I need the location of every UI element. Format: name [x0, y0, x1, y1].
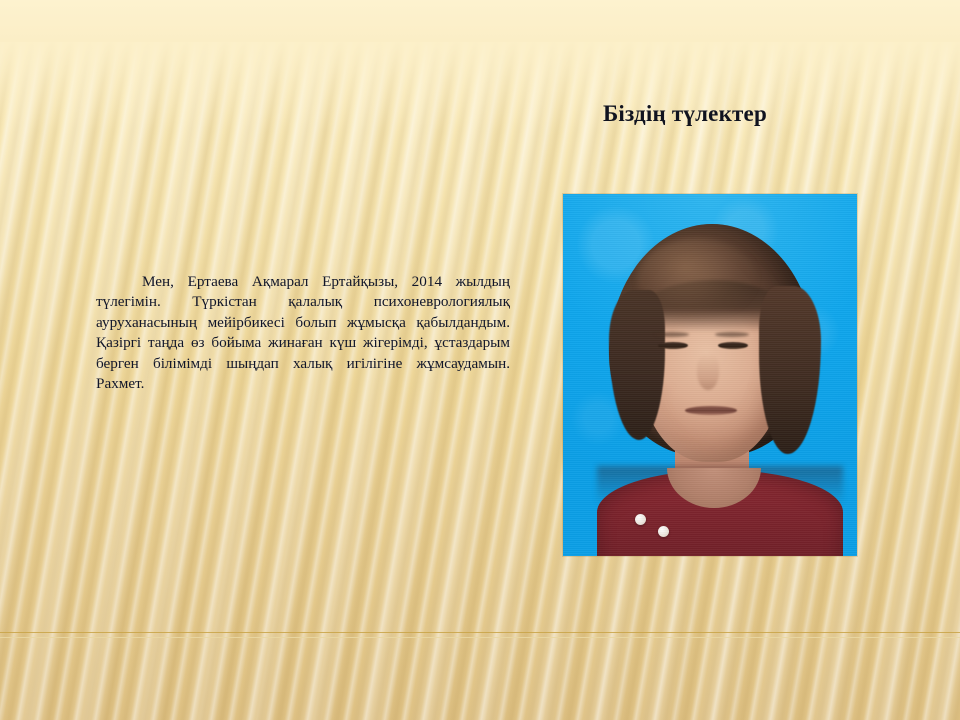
garment-button-upper: [635, 514, 646, 525]
garment-button-lower: [658, 526, 669, 537]
subject-mouth: [685, 406, 737, 415]
divider-line-primary: [0, 632, 960, 633]
subject-eyebrow-left: [655, 332, 689, 337]
slide-title: Біздің түлектер: [520, 100, 850, 128]
subject-eye-left: [658, 342, 688, 349]
presentation-slide: Біздің түлектер Мен, Ертаева Ақмарал Ерт…: [0, 0, 960, 720]
photo-subject: [563, 194, 857, 556]
slide-body-text: Мен, Ертаева Ақмарал Ертайқызы, 2014 жыл…: [96, 272, 510, 394]
subject-hair-lock-right: [759, 286, 821, 454]
subject-nose: [697, 354, 719, 390]
background-top-band: [0, 0, 960, 42]
subject-eyebrow-right: [715, 332, 749, 337]
graduate-portrait-photo: [563, 194, 857, 556]
divider-line-secondary: [0, 637, 960, 638]
subject-eye-right: [718, 342, 748, 349]
